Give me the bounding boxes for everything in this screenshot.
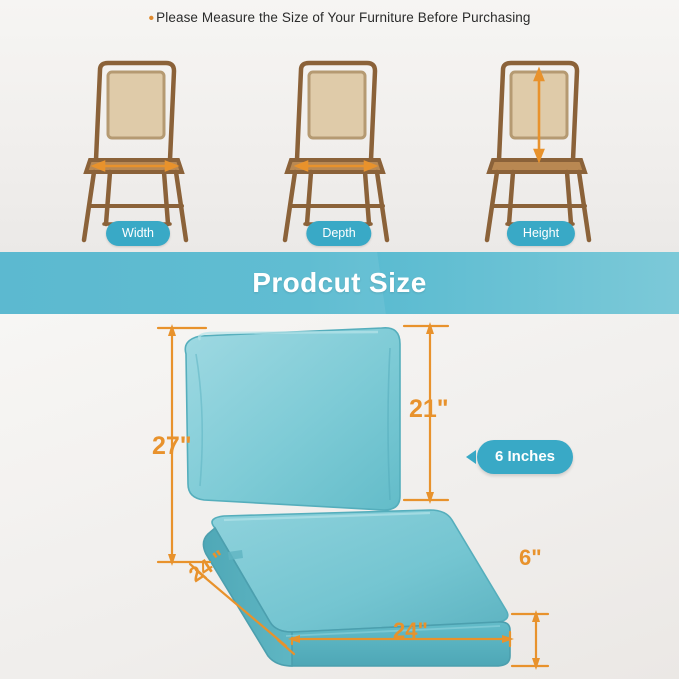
inches-arrow-icon	[466, 450, 476, 464]
thickness-badge: 6 Inches	[477, 440, 573, 474]
chair-depth-icon	[239, 48, 439, 248]
measurement-back-height: 27"	[152, 432, 192, 461]
chair-height-block: Height	[441, 48, 641, 248]
measure-note: •Please Measure the Size of Your Furnitu…	[0, 10, 679, 28]
measure-note-text: Please Measure the Size of Your Furnitur…	[156, 10, 530, 25]
chair-width-block: Width	[38, 48, 238, 248]
measurement-back-panel-height: 21"	[409, 395, 449, 424]
measurement-seat-width: 24"	[393, 618, 428, 644]
measure-furniture-section: •Please Measure the Size of Your Furnitu…	[0, 0, 679, 252]
product-size-banner: Prodcut Size	[0, 252, 679, 314]
chair-width-icon	[38, 48, 238, 248]
cushion-set-icon	[0, 314, 679, 679]
measurement-seat-thickness: 6"	[519, 545, 542, 571]
chair-depth-block: Depth	[239, 48, 439, 248]
chair-height-label: Height	[507, 221, 575, 246]
chair-width-label: Width	[106, 221, 170, 246]
chair-height-icon	[441, 48, 641, 248]
banner-title: Prodcut Size	[252, 267, 426, 299]
product-size-infographic: •Please Measure the Size of Your Furnitu…	[0, 0, 679, 679]
product-dimensions-section	[0, 314, 679, 679]
bullet-icon: •	[148, 10, 154, 27]
chair-depth-label: Depth	[306, 221, 371, 246]
